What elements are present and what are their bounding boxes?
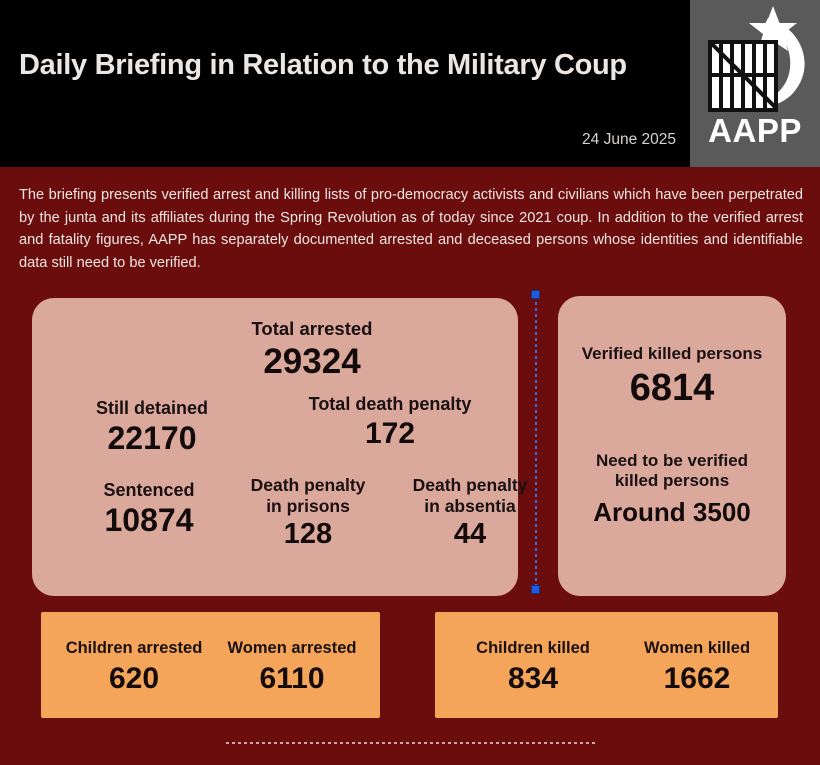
stat-value: 834: [449, 662, 617, 695]
stat-label: Verified killed persons: [558, 344, 786, 364]
stat-value: Around 3500: [558, 498, 786, 527]
stat-death-penalty-in-prisons: Death penaltyin prisons 128: [218, 475, 398, 551]
divider-handle-bottom[interactable]: [531, 585, 540, 594]
arrested-demographics-card: Children arrested 620 Women arrested 611…: [41, 612, 380, 718]
killed-stat-card: Verified killed persons 6814 Need to be …: [558, 296, 786, 596]
page-title: Daily Briefing in Relation to the Milita…: [19, 48, 679, 83]
stat-value: 128: [218, 519, 398, 551]
arrests-stat-card: Total arrested 29324 Still detained 2217…: [32, 298, 518, 596]
stat-label: Total death penalty: [262, 394, 518, 415]
stat-label: Children arrested: [53, 639, 215, 658]
stat-label: Children killed: [449, 639, 617, 658]
stat-children-killed: Children killed 834: [449, 639, 617, 695]
stat-women-arrested: Women arrested 6110: [213, 639, 371, 695]
stat-label: Death penaltyin absentia: [380, 475, 560, 516]
stat-value: 620: [53, 662, 215, 695]
killed-demographics-card: Children killed 834 Women killed 1662: [435, 612, 778, 718]
stat-value: 6110: [213, 662, 371, 695]
stat-need-to-be-verified-killed-persons: Need to be verifiedkilled persons Around…: [558, 451, 786, 527]
stat-label: Total arrested: [192, 318, 432, 340]
stat-label: Need to be verifiedkilled persons: [558, 451, 786, 491]
vertical-divider-guide[interactable]: [535, 296, 537, 588]
stat-total-death-penalty: Total death penalty 172: [262, 394, 518, 450]
stat-value: 22170: [40, 421, 264, 456]
logo-wordmark: AAPP: [690, 114, 820, 147]
stat-label: Women arrested: [213, 639, 371, 658]
stat-value: 44: [380, 519, 560, 551]
stat-death-penalty-in-absentia: Death penaltyin absentia 44: [380, 475, 560, 551]
intro-paragraph: The briefing presents verified arrest an…: [19, 184, 803, 274]
briefing-date: 24 June 2025: [380, 131, 676, 149]
stat-value: 1662: [623, 662, 771, 695]
horizontal-divider-guide: [226, 742, 598, 744]
stat-still-detained: Still detained 22170: [40, 398, 264, 456]
stat-label: Women killed: [623, 639, 771, 658]
stat-label: Still detained: [40, 398, 264, 419]
infographic-page: Daily Briefing in Relation to the Milita…: [0, 0, 820, 765]
stat-total-arrested: Total arrested 29324: [192, 318, 432, 381]
stat-women-killed: Women killed 1662: [623, 639, 771, 695]
divider-handle-top[interactable]: [531, 290, 540, 299]
aapp-prison-bars-crescent-star-icon: [698, 4, 812, 116]
stat-value: 172: [262, 417, 518, 450]
stat-children-arrested: Children arrested 620: [53, 639, 215, 695]
logo-panel: AAPP: [690, 0, 820, 167]
stat-verified-killed-persons: Verified killed persons 6814: [558, 344, 786, 410]
stat-value: 29324: [192, 343, 432, 382]
stat-value: 6814: [558, 368, 786, 410]
stat-label: Death penaltyin prisons: [218, 475, 398, 516]
